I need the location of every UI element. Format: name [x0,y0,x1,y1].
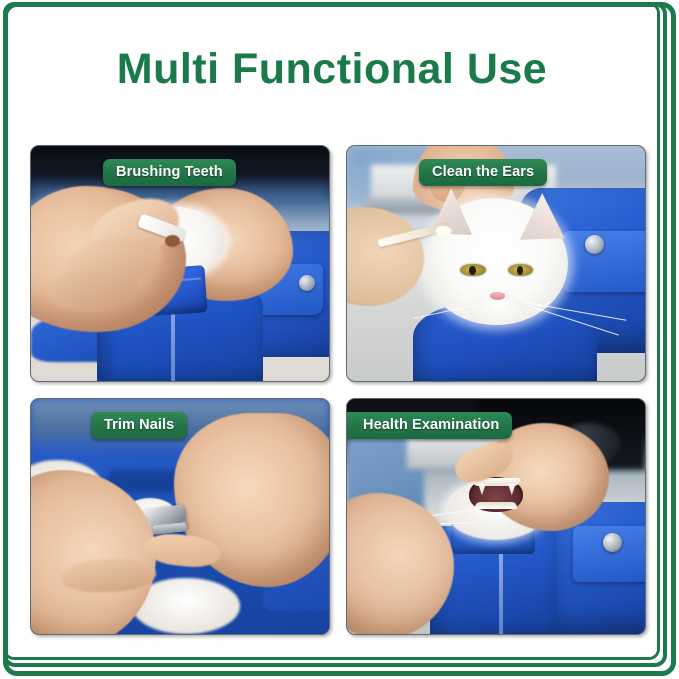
page-title: Multi Functional Use [117,45,547,94]
panel-trim-nails[interactable]: Trim Nails [30,398,330,635]
panel-label-clean-the-ears: Clean the Ears [419,159,547,186]
product-infographic: Multi Functional Use [0,0,679,679]
toothbrush-head [165,235,180,247]
cat-pupil-left [469,266,476,275]
panel-clean-the-ears[interactable]: Clean the Ears [346,145,646,382]
panel-health-examination[interactable]: Health Examination [346,398,646,635]
panel-label-trim-nails: Trim Nails [91,412,187,439]
panel-label-brushing-teeth: Brushing Teeth [103,159,236,186]
panel-grid: Brushing Teeth [30,145,646,635]
bag-flap [562,231,645,292]
bag-zipper [499,554,503,634]
cat-nose [490,292,505,300]
cat-lower-teeth [475,502,517,509]
panel-label-health-examination: Health Examination [347,412,512,439]
panel-brushing-teeth[interactable]: Brushing Teeth [30,145,330,382]
title-area: Multi Functional Use [8,7,656,132]
